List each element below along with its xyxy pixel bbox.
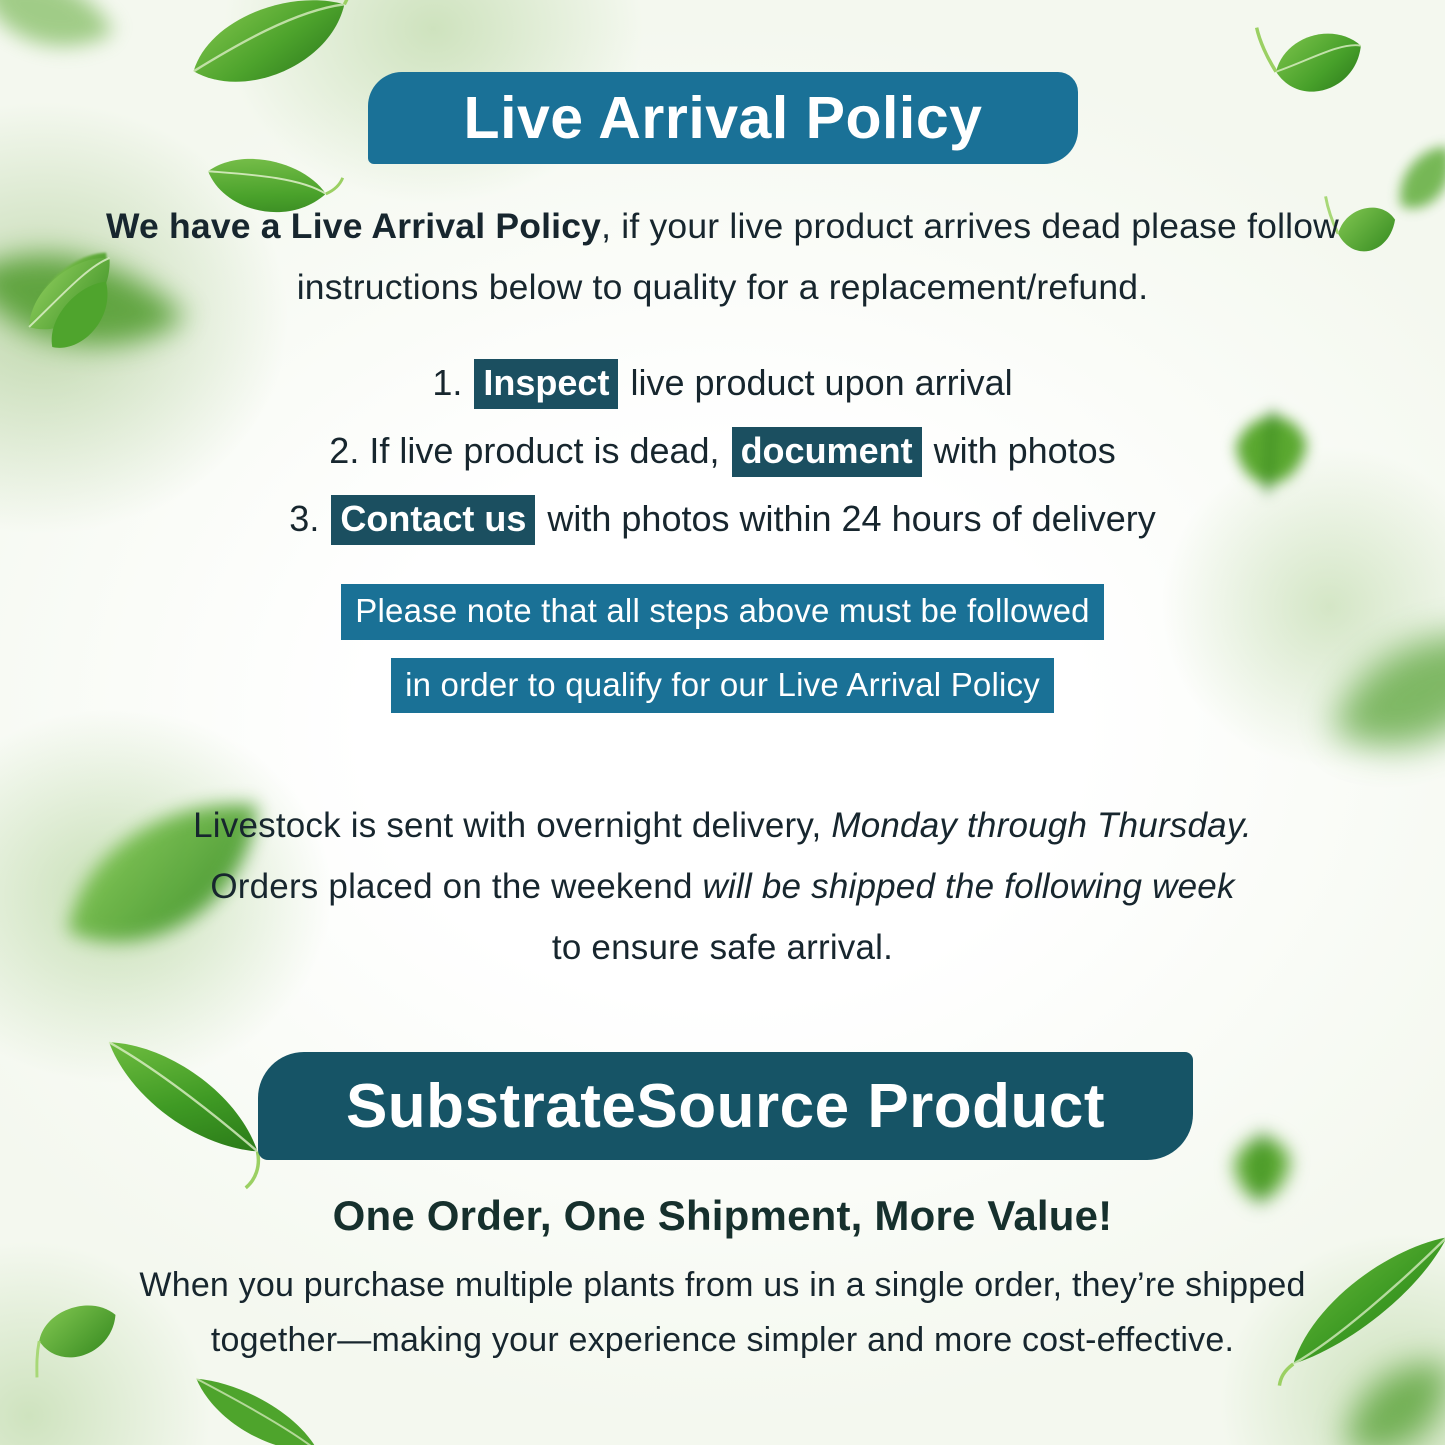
shipping-line-1: Livestock is sent with overnight deliver…	[0, 796, 1445, 857]
value-heading: One Order, One Shipment, More Value!	[0, 1192, 1445, 1240]
live-arrival-policy-title: Live Arrival Policy	[464, 84, 983, 152]
shipping-line-2-italic: will be shipped the following week	[703, 867, 1235, 906]
step-1-highlight-inspect[interactable]: Inspect	[474, 359, 618, 409]
step-2-number: 2.	[329, 430, 359, 471]
step-1-text-after: live product upon arrival	[630, 362, 1012, 403]
policy-steps-list: 1. Inspect live product upon arrival 2. …	[0, 352, 1445, 556]
list-item: 1. Inspect live product upon arrival	[0, 352, 1445, 414]
shipping-line-3: to ensure safe arrival.	[0, 918, 1445, 979]
value-paragraph: When you purchase multiple plants from u…	[0, 1258, 1445, 1368]
substratesource-product-title: SubstrateSource Product	[346, 1071, 1105, 1142]
note-row-1: Please note that all steps above must be…	[0, 584, 1445, 640]
step-3-number: 3.	[289, 498, 319, 539]
value-line-2: together—making your experience simpler …	[0, 1313, 1445, 1368]
shipping-schedule-paragraph: Livestock is sent with overnight deliver…	[0, 796, 1445, 979]
step-1-number: 1.	[432, 362, 462, 403]
note-line-1: Please note that all steps above must be…	[341, 584, 1103, 640]
step-3-highlight-contact-us[interactable]: Contact us	[331, 495, 535, 545]
step-2-text-before: If live product is dead,	[369, 430, 719, 471]
policy-page: Live Arrival Policy We have a Live Arriv…	[0, 0, 1445, 1445]
intro-paragraph: We have a Live Arrival Policy, if your l…	[0, 196, 1445, 318]
list-item: 2. If live product is dead, document wit…	[0, 420, 1445, 482]
step-2-highlight-document[interactable]: document	[732, 427, 922, 477]
value-line-1: When you purchase multiple plants from u…	[0, 1258, 1445, 1313]
shipping-line-2-text: Orders placed on the weekend	[210, 867, 702, 906]
shipping-line-1-text: Livestock is sent with overnight deliver…	[193, 806, 831, 845]
live-arrival-policy-banner: Live Arrival Policy	[368, 72, 1078, 164]
step-2-text-after: with photos	[934, 430, 1116, 471]
intro-lead-rest: , if your live product arrives dead plea…	[601, 206, 1339, 246]
intro-lead-bold: We have a Live Arrival Policy	[106, 206, 601, 246]
note-row-2: in order to qualify for our Live Arrival…	[0, 658, 1445, 714]
substratesource-product-banner: SubstrateSource Product	[258, 1052, 1193, 1160]
list-item: 3. Contact us with photos within 24 hour…	[0, 488, 1445, 550]
step-3-text-after: with photos within 24 hours of delivery	[547, 498, 1155, 539]
intro-line-1: We have a Live Arrival Policy, if your l…	[0, 196, 1445, 257]
shipping-line-2: Orders placed on the weekend will be shi…	[0, 857, 1445, 918]
intro-line-2: instructions below to quality for a repl…	[0, 257, 1445, 318]
note-line-2: in order to qualify for our Live Arrival…	[391, 658, 1054, 714]
shipping-line-1-italic: Monday through Thursday.	[831, 806, 1252, 845]
policy-note-block: Please note that all steps above must be…	[0, 584, 1445, 731]
